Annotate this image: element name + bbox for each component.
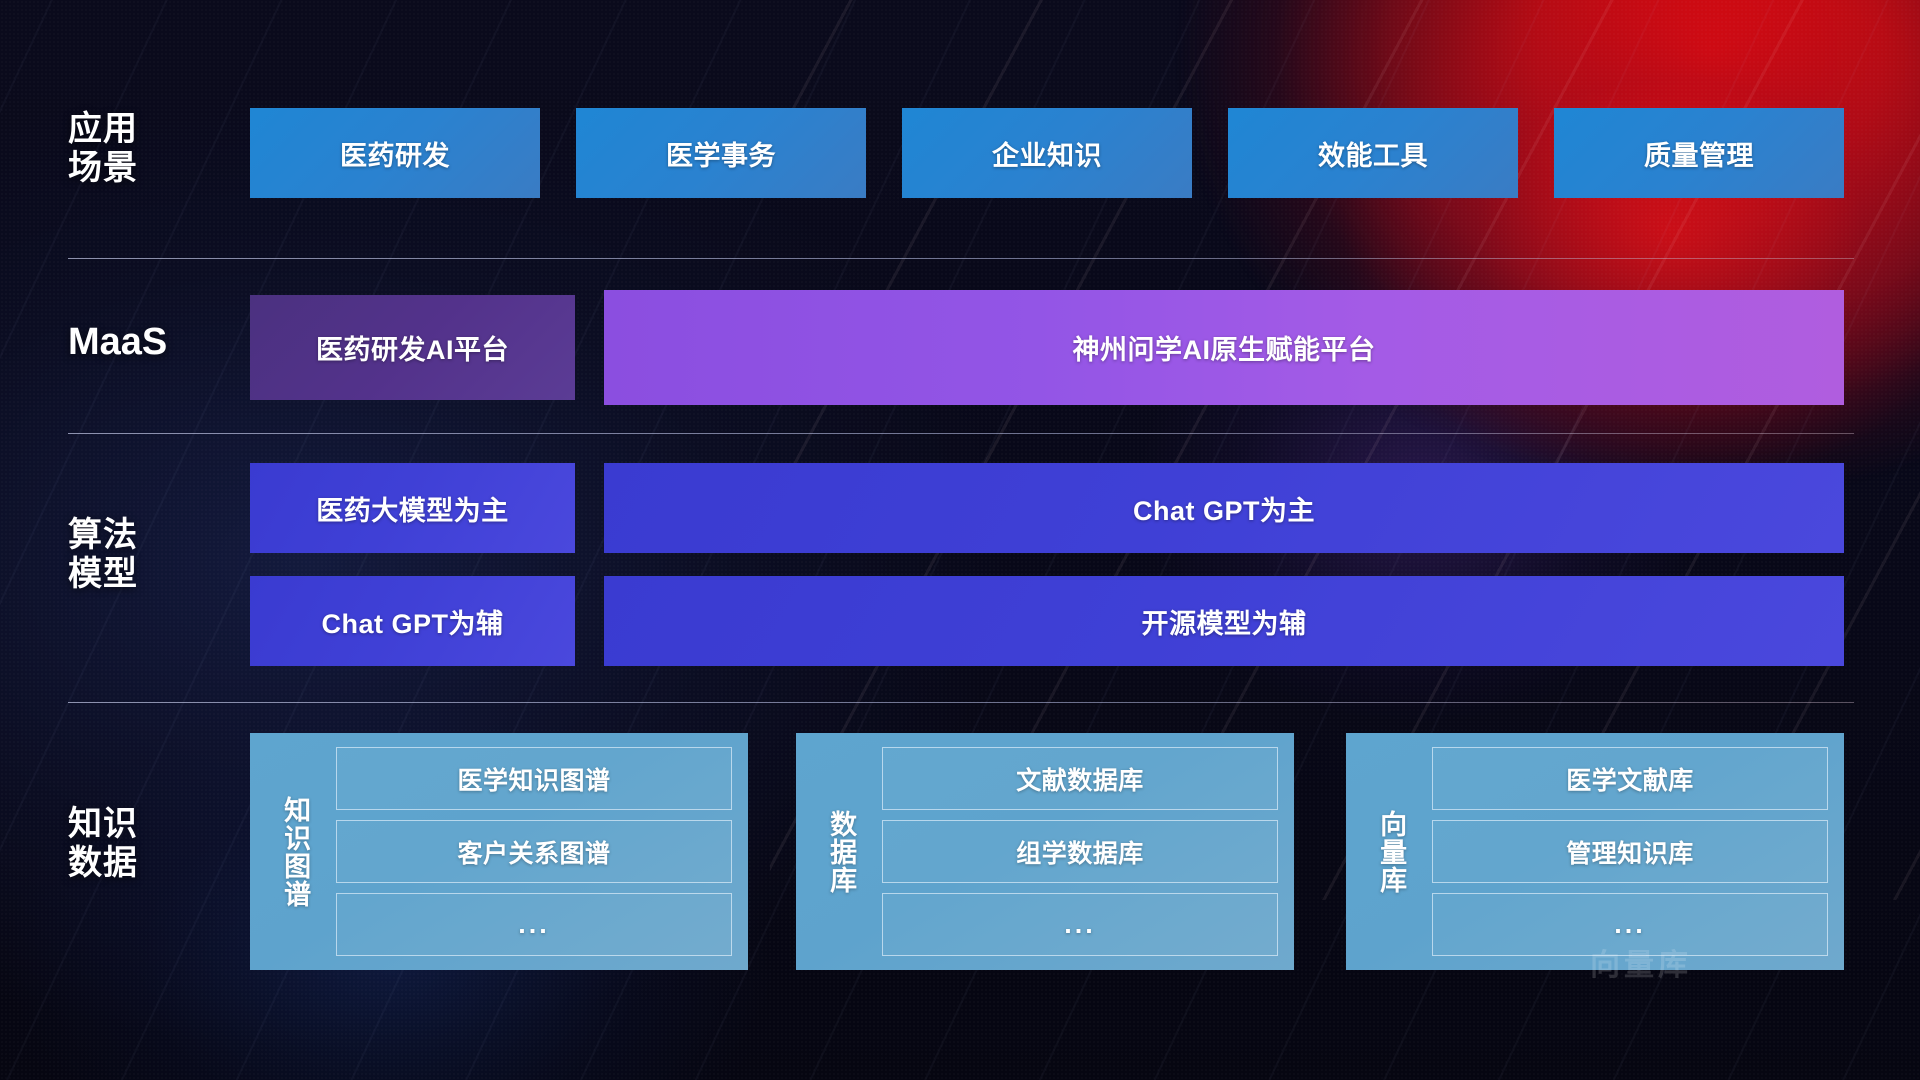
architecture-diagram: 应用 场景 医药研发 医学事务 企业知识 效能工具 质量管理 MaaS 医药研发… — [0, 0, 1920, 1080]
tier-label-line-1: 算法 — [68, 516, 218, 555]
model-box-chatgpt-primary[interactable]: Chat GPT为主 — [604, 463, 1844, 553]
knowledge-item-more[interactable]: ... — [882, 893, 1278, 956]
model-box-opensource-secondary[interactable]: 开源模型为辅 — [604, 576, 1844, 666]
knowledge-item-medical-knowledge-graph[interactable]: 医学知识图谱 — [336, 747, 732, 810]
app-box-quality-management[interactable]: 质量管理 — [1554, 108, 1844, 198]
knowledge-group-vector-store: 向量库 医学文献库 管理知识库 ... — [1346, 733, 1844, 970]
tier-label-line-2: 模型 — [68, 555, 218, 594]
knowledge-item-omics-database[interactable]: 组学数据库 — [882, 820, 1278, 883]
tier-label-algorithm-models: 算法 模型 — [68, 516, 218, 595]
knowledge-group-label-database: 数据库 — [814, 747, 868, 956]
tier-label-maas: MaaS — [68, 320, 218, 364]
knowledge-item-customer-relation-graph[interactable]: 客户关系图谱 — [336, 820, 732, 883]
tier-label-application-scenarios: 应用 场景 — [68, 110, 218, 189]
divider-after-applications — [68, 258, 1854, 259]
tier-label-knowledge-data: 知识 数据 — [68, 805, 218, 884]
knowledge-group-label-knowledge-graph: 知识图谱 — [268, 747, 322, 956]
app-box-efficiency-tools[interactable]: 效能工具 — [1228, 108, 1518, 198]
divider-after-maas — [68, 433, 1854, 434]
knowledge-group-label-vector-store: 向量库 — [1364, 747, 1418, 956]
maas-box-pharma-ai-platform[interactable]: 医药研发AI平台 — [250, 295, 575, 400]
model-box-pharma-llm-primary[interactable]: 医药大模型为主 — [250, 463, 575, 553]
knowledge-item-more[interactable]: ... — [1432, 893, 1828, 956]
knowledge-item-literature-database[interactable]: 文献数据库 — [882, 747, 1278, 810]
knowledge-group-knowledge-graph: 知识图谱 医学知识图谱 客户关系图谱 ... — [250, 733, 748, 970]
tier-label-line-1: 应用 — [68, 110, 218, 149]
knowledge-item-management-knowledge-store[interactable]: 管理知识库 — [1432, 820, 1828, 883]
tier-label-line-2: 数据 — [68, 844, 218, 883]
knowledge-item-more[interactable]: ... — [336, 893, 732, 956]
app-box-medical-affairs[interactable]: 医学事务 — [576, 108, 866, 198]
knowledge-group-items: 医学文献库 管理知识库 ... — [1432, 747, 1828, 956]
tier-label-line-2: 场景 — [68, 149, 218, 188]
model-box-chatgpt-secondary[interactable]: Chat GPT为辅 — [250, 576, 575, 666]
app-box-pharma-rd[interactable]: 医药研发 — [250, 108, 540, 198]
maas-box-shenzhou-platform[interactable]: 神州问学AI原生赋能平台 — [604, 290, 1844, 405]
tier-label-line-1: 知识 — [68, 805, 218, 844]
divider-after-models — [68, 702, 1854, 703]
knowledge-group-items: 文献数据库 组学数据库 ... — [882, 747, 1278, 956]
knowledge-group-items: 医学知识图谱 客户关系图谱 ... — [336, 747, 732, 956]
app-box-enterprise-knowledge[interactable]: 企业知识 — [902, 108, 1192, 198]
knowledge-group-database: 数据库 文献数据库 组学数据库 ... — [796, 733, 1294, 970]
knowledge-item-medical-literature-store[interactable]: 医学文献库 — [1432, 747, 1828, 810]
